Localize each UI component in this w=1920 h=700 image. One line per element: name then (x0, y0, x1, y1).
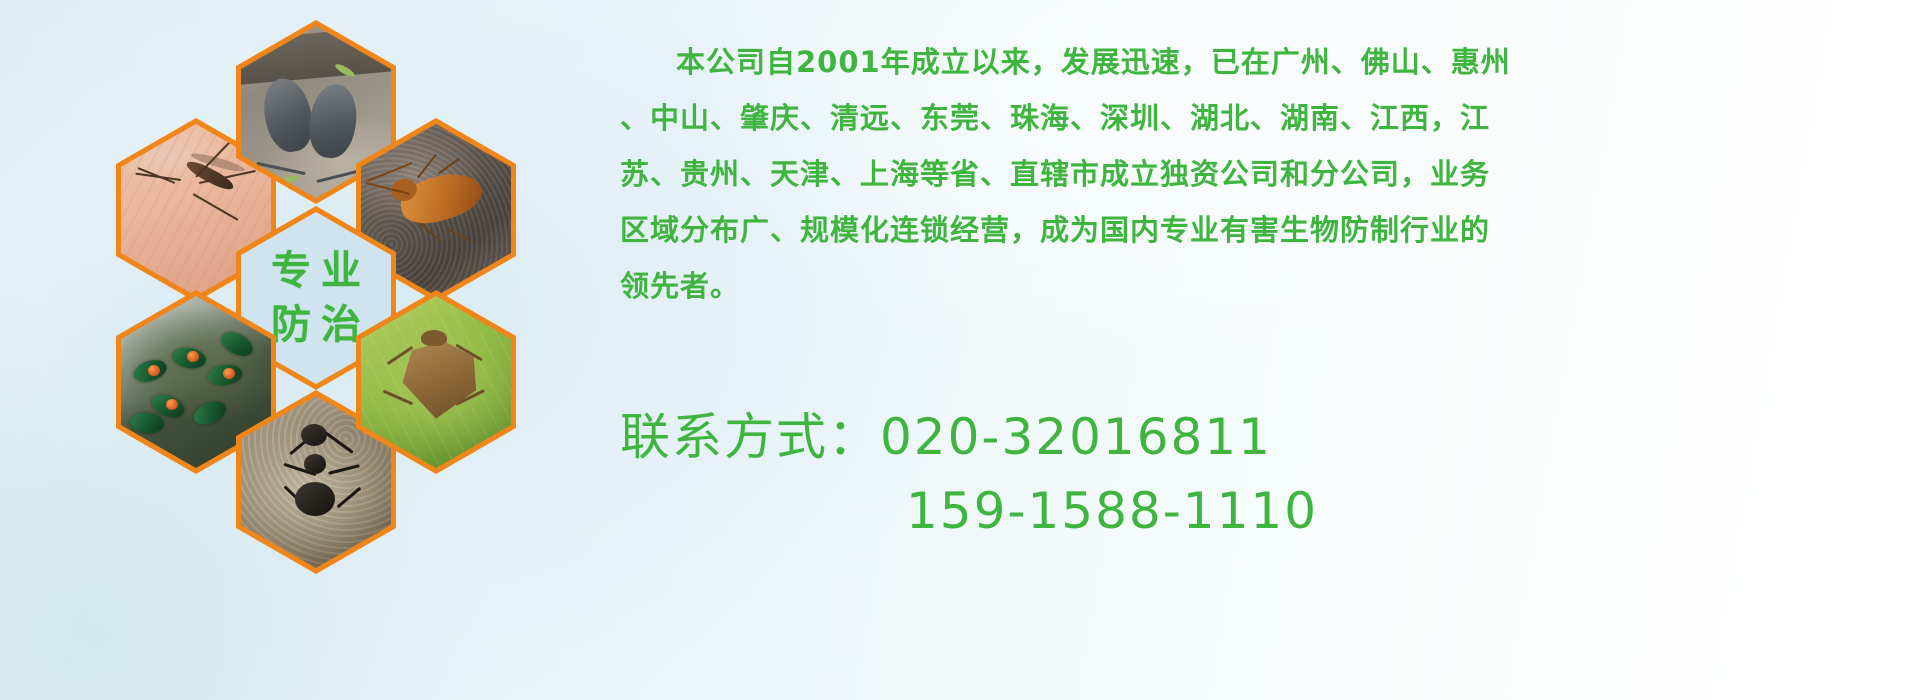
contact-phone-secondary[interactable]: 159-1588-1110 (620, 474, 1920, 548)
content-column: 本公司自2001年成立以来，发展迅速，已在广州、佛山、惠州 、中山、肇庆、清远、… (620, 0, 1920, 700)
logo-text-line-2: 防治 (261, 300, 371, 350)
contact-phone-primary[interactable]: 联系方式：020-32016811 (620, 400, 1920, 474)
company-intro-paragraph: 本公司自2001年成立以来，发展迅速，已在广州、佛山、惠州 、中山、肇庆、清远、… (620, 34, 1920, 314)
honeycomb-image-cluster: 专业 防治 (80, 10, 600, 570)
intro-line-3: 苏、贵州、天津、上海等省、直辖市成立独资公司和分公司，业务 (620, 146, 1920, 202)
contact-block: 联系方式：020-32016811 159-1588-1110 (620, 400, 1920, 548)
intro-line-5: 领先者。 (620, 258, 1920, 314)
intro-line-1: 本公司自2001年成立以来，发展迅速，已在广州、佛山、惠州 (620, 34, 1920, 90)
intro-line-4: 区域分布广、规模化连锁经营，成为国内专业有害生物防制行业的 (620, 202, 1920, 258)
stink-bug-photo (361, 296, 511, 468)
intro-line-2: 、中山、肇庆、清远、东莞、珠海、深圳、湖北、湖南、江西，江 (620, 90, 1920, 146)
logo-text-line-1: 专业 (261, 246, 371, 296)
